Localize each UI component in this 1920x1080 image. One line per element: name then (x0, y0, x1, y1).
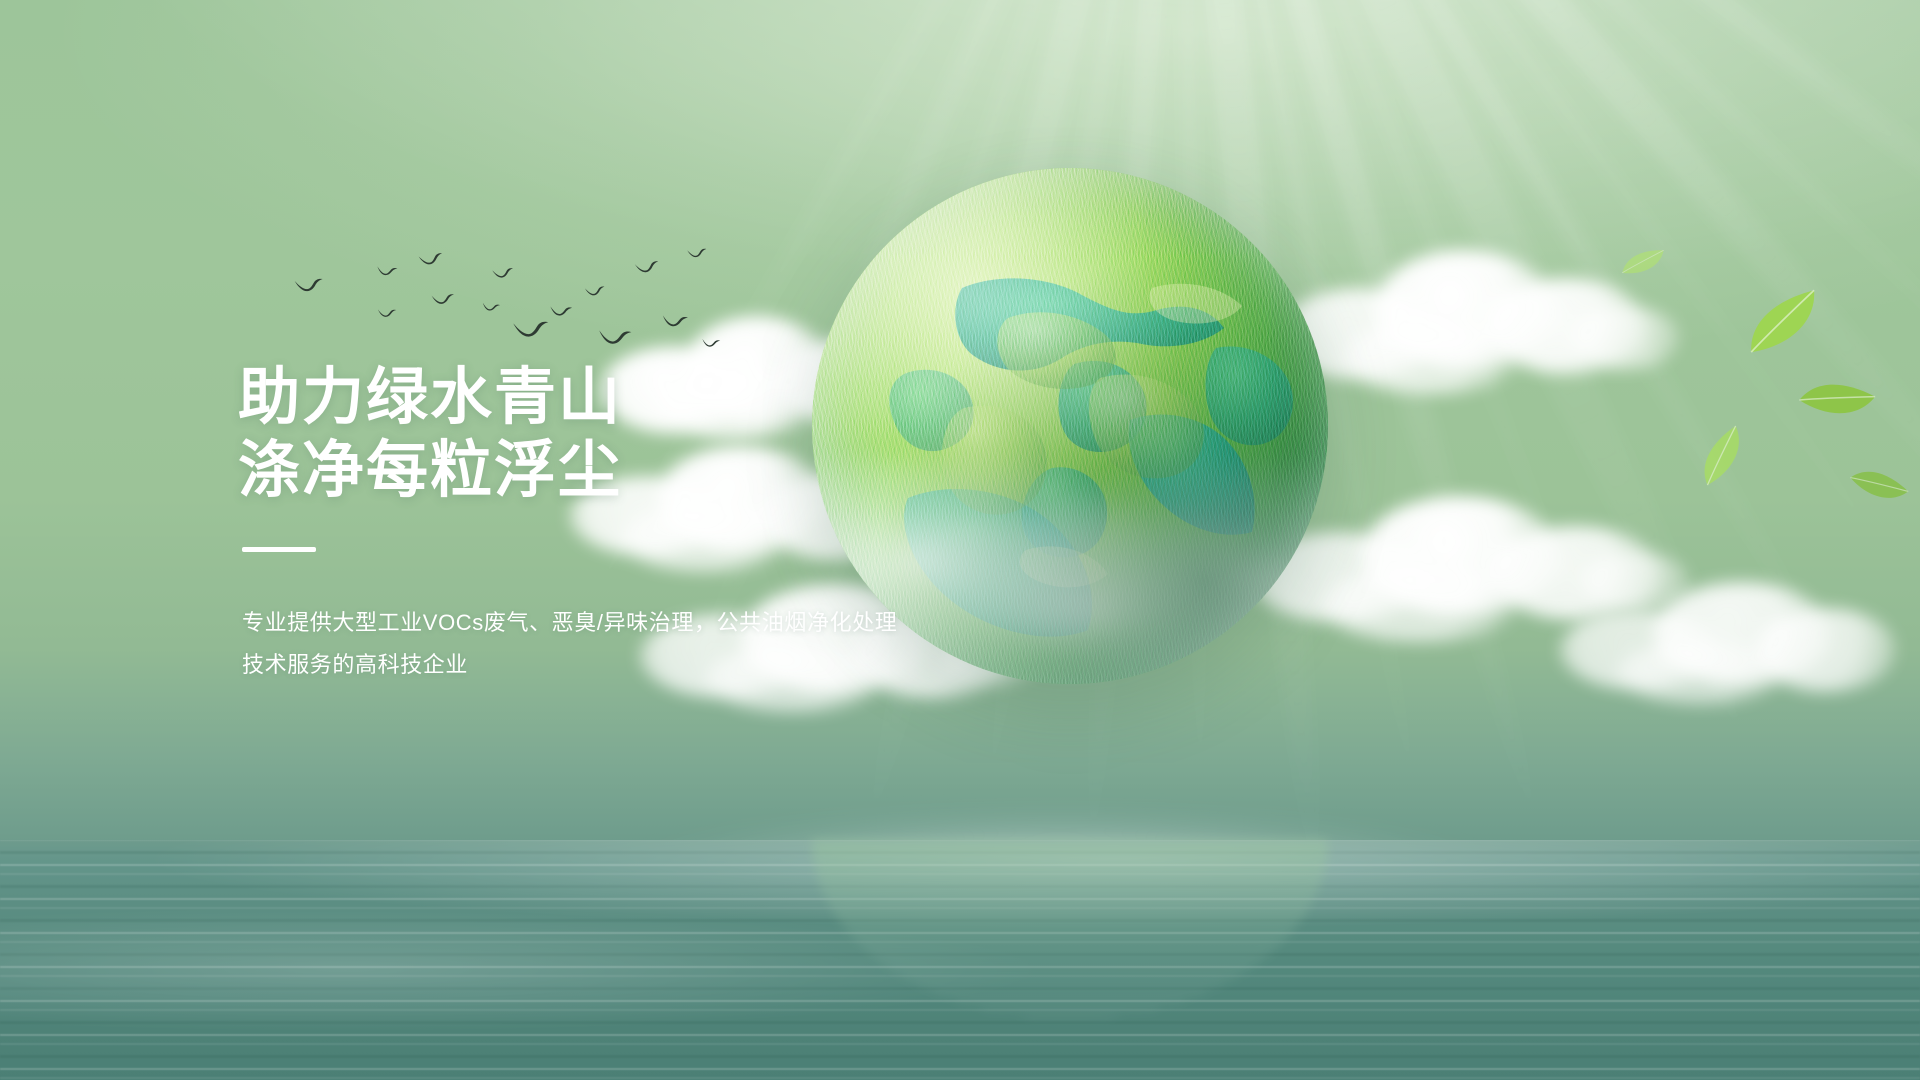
subtitle: 专业提供大型工业VOCs废气、恶臭/异味治理，公共油烟净化处理技术服务的高科技企… (242, 602, 902, 686)
banner-copy: 助力绿水青山 涤净每粒浮尘 专业提供大型工业VOCs废气、恶臭/异味治理，公共油… (238, 362, 958, 687)
headline: 助力绿水青山 涤净每粒浮尘 (238, 362, 958, 507)
title-underline (242, 547, 316, 552)
reflection-ripples (812, 840, 1328, 1020)
globe-reflection (812, 840, 1328, 1020)
hero-banner: 助力绿水青山 涤净每粒浮尘 专业提供大型工业VOCs废气、恶臭/异味治理，公共油… (0, 0, 1920, 1080)
